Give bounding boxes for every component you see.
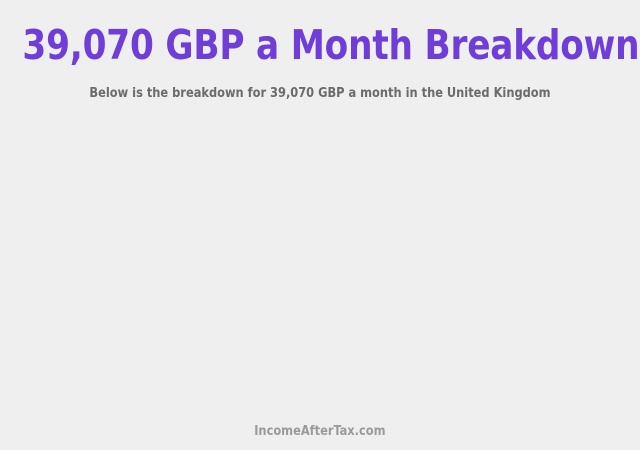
page-subtitle: Below is the breakdown for 39,070 GBP a … — [19, 85, 621, 102]
income-breakdown-page: 39,070 GBP a Month Breakdown Below is th… — [0, 0, 640, 450]
chart-area: Chart plotting area is blank in the scre… — [0, 118, 640, 410]
chart-canvas — [0, 118, 640, 410]
page-footer: IncomeAfterTax.com — [0, 422, 640, 440]
page-title: 39,070 GBP a Month Breakdown — [22, 22, 617, 68]
footer-watermark: IncomeAfterTax.com — [254, 423, 385, 440]
